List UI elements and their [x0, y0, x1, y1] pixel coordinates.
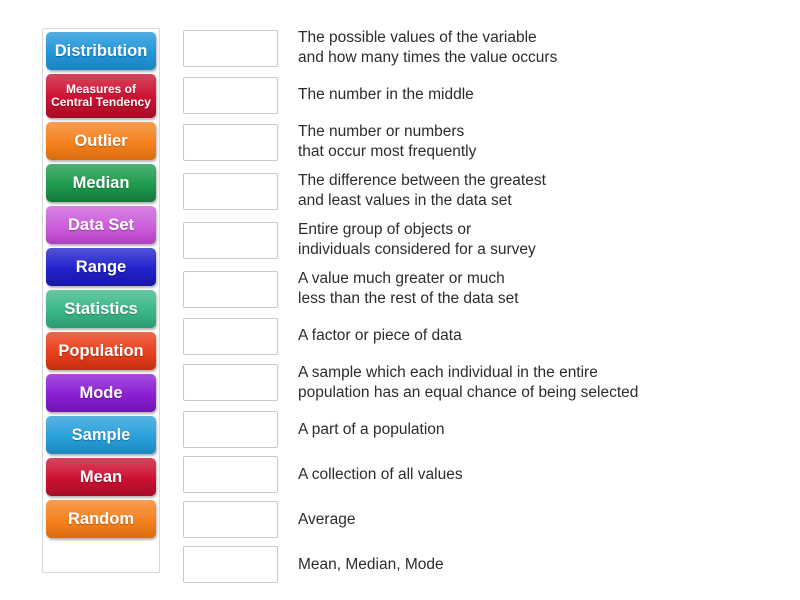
term-tile-label: Median: [73, 174, 130, 192]
term-tile[interactable]: Mode: [46, 374, 156, 412]
term-tile-label: Measures of Central Tendency: [51, 83, 151, 110]
definition-row: A sample which each individual in the en…: [183, 363, 783, 404]
answer-dropzone[interactable]: [183, 30, 278, 67]
definition-text: The number in the middle: [298, 85, 474, 105]
term-tile[interactable]: Mean: [46, 458, 156, 496]
term-tile[interactable]: Statistics: [46, 290, 156, 328]
answer-dropzone[interactable]: [183, 456, 278, 493]
answer-dropzone[interactable]: [183, 546, 278, 583]
term-tile-label: Data Set: [68, 216, 134, 234]
answer-dropzone[interactable]: [183, 77, 278, 114]
definition-text: The possible values of the variable and …: [298, 28, 557, 69]
definition-text: Entire group of objects or individuals c…: [298, 220, 536, 261]
answer-dropzone[interactable]: [183, 124, 278, 161]
definition-text: The number or numbers that occur most fr…: [298, 122, 476, 163]
definition-row: Entire group of objects or individuals c…: [183, 220, 783, 261]
answer-dropzone[interactable]: [183, 411, 278, 448]
term-tile-tray: DistributionMeasures of Central Tendency…: [42, 28, 160, 573]
definition-text: A value much greater or much less than t…: [298, 269, 519, 310]
definition-row: A collection of all values: [183, 456, 783, 493]
term-tile[interactable]: Median: [46, 164, 156, 202]
definition-row: Average: [183, 501, 783, 538]
definition-row: The number in the middle: [183, 77, 783, 114]
definition-row: A factor or piece of data: [183, 318, 783, 355]
definition-text: A part of a population: [298, 420, 445, 440]
term-tile[interactable]: Range: [46, 248, 156, 286]
definition-row: The possible values of the variable and …: [183, 28, 783, 69]
term-tile-label: Statistics: [64, 300, 137, 318]
definition-text: A factor or piece of data: [298, 326, 462, 346]
definition-text: A collection of all values: [298, 465, 463, 485]
term-tile-label: Sample: [72, 426, 131, 444]
answer-dropzone[interactable]: [183, 173, 278, 210]
definition-row: The number or numbers that occur most fr…: [183, 122, 783, 163]
term-tile[interactable]: Outlier: [46, 122, 156, 160]
term-tile-label: Random: [68, 510, 134, 528]
term-tile-label: Distribution: [55, 42, 148, 60]
term-tile[interactable]: Data Set: [46, 206, 156, 244]
answer-dropzone[interactable]: [183, 222, 278, 259]
term-tile-label: Outlier: [74, 132, 127, 150]
answer-dropzone[interactable]: [183, 318, 278, 355]
definition-row: Mean, Median, Mode: [183, 546, 783, 583]
term-tile-label: Mode: [79, 384, 122, 402]
term-tile[interactable]: Distribution: [46, 32, 156, 70]
match-up-activity: DistributionMeasures of Central Tendency…: [0, 0, 800, 600]
definition-rows: The possible values of the variable and …: [183, 28, 783, 591]
definition-text: Average: [298, 510, 355, 530]
answer-dropzone[interactable]: [183, 271, 278, 308]
answer-dropzone[interactable]: [183, 501, 278, 538]
term-tile[interactable]: Population: [46, 332, 156, 370]
definition-row: A value much greater or much less than t…: [183, 269, 783, 310]
definition-row: The difference between the greatest and …: [183, 171, 783, 212]
term-tile[interactable]: Measures of Central Tendency: [46, 74, 156, 118]
definition-text: Mean, Median, Mode: [298, 555, 444, 575]
term-tile[interactable]: Sample: [46, 416, 156, 454]
definition-row: A part of a population: [183, 411, 783, 448]
term-tile-label: Mean: [80, 468, 122, 486]
answer-dropzone[interactable]: [183, 364, 278, 401]
definition-text: The difference between the greatest and …: [298, 171, 546, 212]
term-tile[interactable]: Random: [46, 500, 156, 538]
definition-text: A sample which each individual in the en…: [298, 363, 638, 404]
term-tile-label: Population: [58, 342, 143, 360]
term-tile-label: Range: [76, 258, 126, 276]
